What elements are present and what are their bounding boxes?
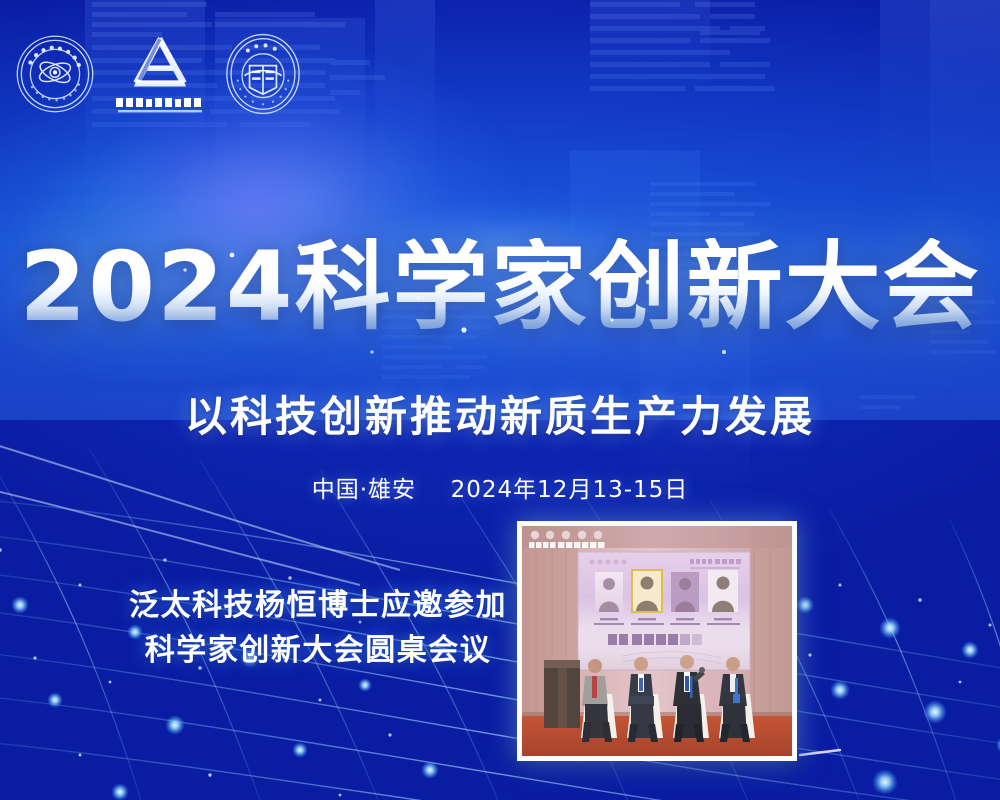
page-subtitle: 以科技创新推动新质生产力发展 bbox=[0, 383, 1000, 444]
roundtable-panel-photo bbox=[522, 526, 792, 756]
oval-institute-emblem bbox=[224, 32, 302, 116]
date-range-text: 2024年12月13-15日 bbox=[451, 477, 689, 503]
caption-line-2: 科学家创新大会圆桌会议 bbox=[118, 630, 518, 673]
location-text: 中国·雄安 bbox=[312, 477, 416, 503]
triangle-mark-logo bbox=[129, 32, 191, 94]
circular-seal-emblem bbox=[14, 33, 96, 115]
event-caption: 泛太科技杨恒博士应邀参加 科学家创新大会圆桌会议 bbox=[118, 585, 518, 672]
triangle-logo-wordmark bbox=[114, 96, 206, 116]
caption-line-1: 泛太科技杨恒博士应邀参加 bbox=[118, 585, 518, 628]
conference-poster: 2024科学家创新大会 以科技创新推动新质生产力发展 中国·雄安 2024年12… bbox=[0, 0, 1000, 800]
date-location-line: 中国·雄安 2024年12月13-15日 bbox=[0, 470, 1000, 504]
roundtable-photo-card bbox=[517, 521, 797, 761]
triangle-logo-group bbox=[114, 32, 206, 116]
organizer-logo-row bbox=[14, 32, 302, 116]
main-title-block: 2024科学家创新大会 bbox=[0, 238, 1000, 338]
page-title: 2024科学家创新大会 bbox=[0, 238, 1000, 338]
